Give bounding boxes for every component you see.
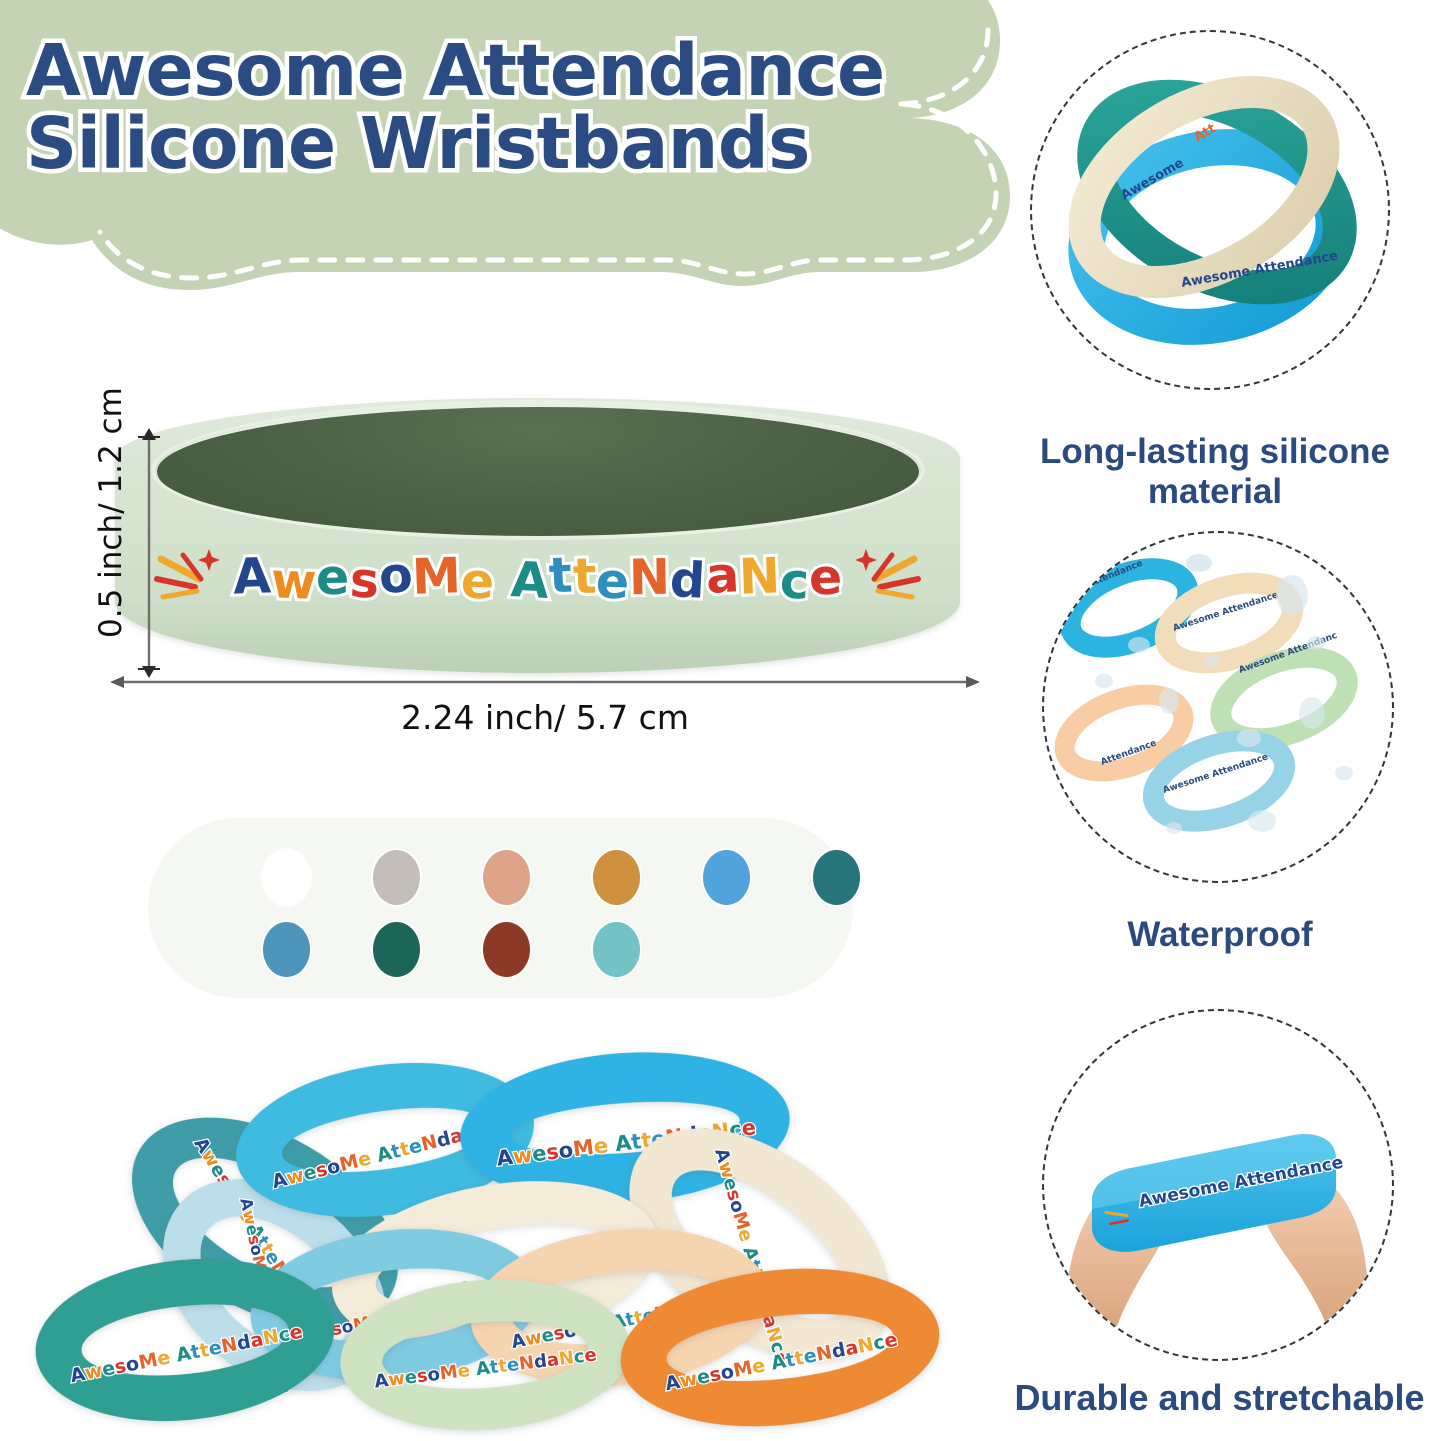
feature-durable-caption: Durable and stretchable (992, 1377, 1445, 1418)
feature-durable: Awesome Attendance Durable and stretchab… (1000, 1005, 1445, 1435)
color-swatch-dark-teal[interactable] (813, 850, 860, 905)
feature-waterproof-image: Attendance Awesome Attendance Awesome At… (1042, 531, 1394, 883)
dimension-height-arrow (138, 428, 160, 678)
logo-letter: d (669, 551, 707, 610)
color-swatch-sky-blue[interactable] (703, 850, 750, 905)
sunburst-right-icon (852, 539, 922, 619)
logo-letter: t (572, 548, 597, 606)
interlocked-bands-graphic: Awesome Att Awesome Attendance (1032, 32, 1387, 387)
feature-long-lasting-caption: Long-lasting silicone material (995, 432, 1435, 512)
logo-letter: t (548, 546, 574, 604)
title-line-1: Awesome Attendance (26, 34, 1006, 107)
color-swatch-brick-red[interactable] (483, 922, 530, 977)
color-swatch-panel (148, 818, 853, 998)
dimension-height: 0.5 inch/ 1.2 cm (56, 400, 166, 680)
swatch-row-top (263, 850, 860, 905)
logo-letter: e (808, 549, 842, 607)
main-product-image: AwesoMe AtteNdaNce (115, 398, 960, 673)
color-swatch-white[interactable] (263, 850, 310, 905)
feature-long-lasting: Awesome Att Awesome Attendance Long-last… (985, 22, 1445, 522)
title-banner: Awesome Attendance Silicone Wristbands (0, 0, 1035, 300)
logo-letter: c (779, 553, 810, 611)
logo-letter: o (377, 546, 414, 605)
color-swatch-light-aqua[interactable] (593, 922, 640, 977)
color-swatch-light-gray[interactable] (373, 850, 420, 905)
logo-letter: N (629, 549, 671, 607)
dimension-width: 2.24 inch/ 5.7 cm (110, 672, 980, 747)
wristband-logo-text: AwesoMe AtteNdaNce (233, 550, 842, 607)
title-line-2: Silicone Wristbands (26, 107, 1006, 180)
color-swatch-golden-amber[interactable] (593, 850, 640, 905)
logo-letter: A (510, 551, 551, 610)
logo-letter: e (460, 552, 495, 610)
feature-long-lasting-image: Awesome Att Awesome Attendance (1030, 30, 1390, 390)
dimension-width-arrow (110, 672, 980, 692)
stretch-hands-graphic: Awesome Attendance (1044, 1011, 1392, 1359)
waterproof-bands-graphic: Attendance Awesome Attendance Awesome At… (1044, 533, 1392, 881)
logo-letter: a (704, 546, 740, 605)
color-swatch-steel-blue[interactable] (263, 922, 310, 977)
feature-waterproof-caption: Waterproof (1000, 915, 1440, 955)
page-title: Awesome Attendance Silicone Wristbands (26, 34, 1006, 180)
logo-letter: w (270, 552, 317, 611)
logo-letter: e (316, 549, 350, 607)
swatch-row-bottom (263, 922, 640, 977)
feature-waterproof: Attendance Awesome Attendance Awesome At… (1000, 525, 1445, 980)
color-swatch-deep-green-teal[interactable] (373, 922, 420, 977)
logo-letter: M (411, 547, 462, 606)
logo-letter: N (738, 547, 781, 605)
feature-durable-image: Awesome Attendance (1042, 1009, 1394, 1361)
wristband-pile-image: AwesoMe AtteNdaNceAwesoMe AtteNdaNceAwes… (20, 1045, 995, 1435)
dimension-height-label: 0.5 inch/ 1.2 cm (93, 408, 129, 638)
dimension-width-label: 2.24 inch/ 5.7 cm (110, 698, 980, 737)
logo-letter: s (348, 551, 380, 609)
logo-letter: A (232, 547, 272, 605)
wristband-artwork: AwesoMe AtteNdaNce (155, 516, 920, 641)
color-swatch-peach-pink[interactable] (483, 850, 530, 905)
logo-letter: e (595, 552, 630, 610)
